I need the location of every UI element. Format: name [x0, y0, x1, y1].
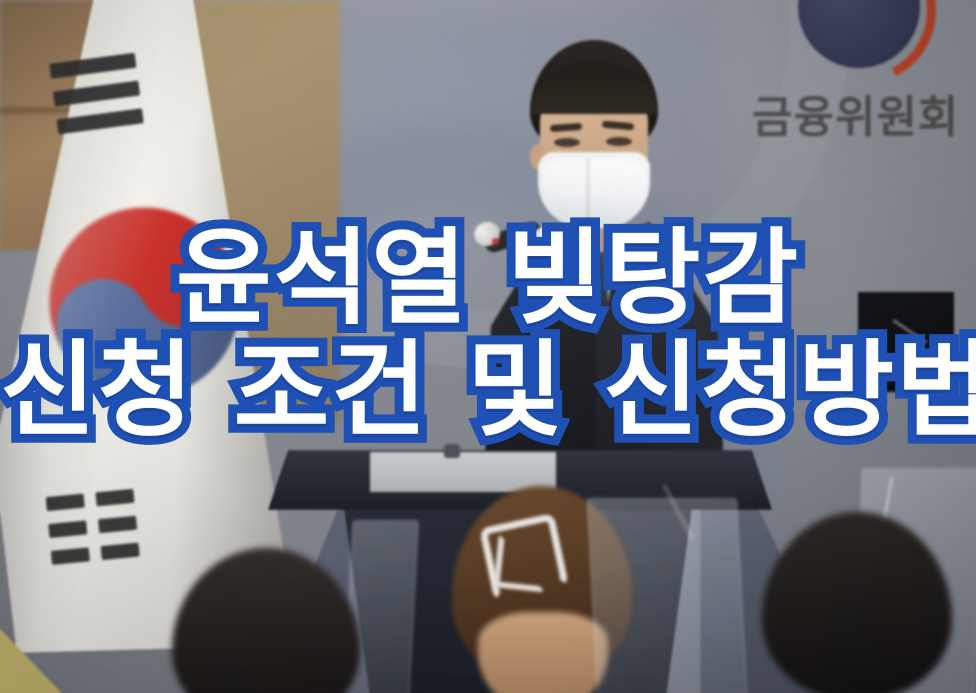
speaker-figure	[470, 40, 730, 460]
government-emblem-icon	[790, 0, 936, 84]
speaker-eye-right	[606, 137, 632, 146]
hair-clip	[493, 533, 550, 592]
speaker-suit-left	[484, 226, 600, 476]
face-mask-fold	[586, 158, 590, 222]
thumbnail-canvas: 금융위원회	[0, 0, 976, 693]
agency-wordmark: 금융위원회	[752, 96, 959, 140]
podium-front-panel	[370, 452, 556, 492]
display-panel	[858, 292, 954, 392]
audience-face	[478, 612, 608, 693]
acrylic-divider	[587, 498, 747, 693]
microphone-head-icon	[532, 226, 562, 254]
face-mask	[538, 152, 650, 228]
podium-clip	[444, 444, 460, 458]
microphone-indicator-light	[492, 238, 499, 245]
speaker-suit-right	[596, 222, 724, 476]
speaker-eye-left	[554, 138, 580, 147]
